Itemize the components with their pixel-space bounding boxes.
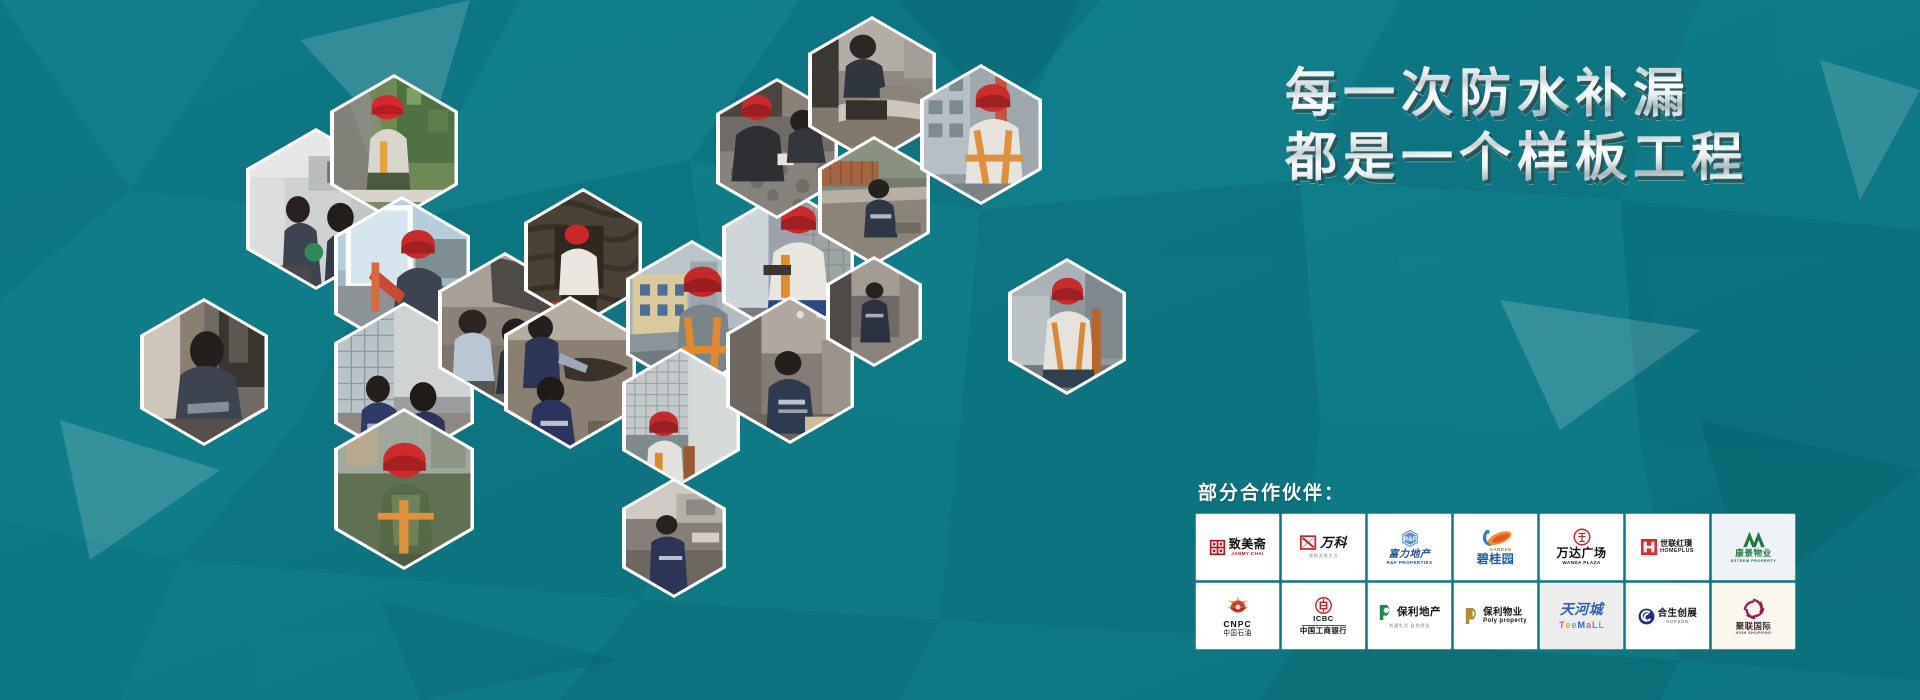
wanda-circle-icon [1573, 528, 1591, 546]
seal-stamp-icon [1209, 539, 1226, 556]
partner-name-cn: 保利地产 [1397, 607, 1441, 619]
partners-title: 部分合作伙伴： [1198, 478, 1796, 505]
hero-banner: 每一次防水补漏 都是一个样板工程 部分合作伙伴： [0, 0, 1920, 700]
icbc-coin-icon [1315, 597, 1332, 614]
partner-name-cn: 天河城 [1560, 602, 1604, 617]
hex-photo-worker-facade-abseil [1008, 258, 1126, 395]
partner-tagline: 建筑无限生活 [1309, 553, 1338, 558]
partner-name-cn: 中国石油 [1223, 630, 1251, 637]
partner-logo-grid: 致美斋 JANMY CHAI 万科 建筑无限生活 [1196, 514, 1796, 649]
partner-logo-cnpc[interactable]: CNPC 中国石油 [1196, 583, 1279, 649]
partner-logo-vanke[interactable]: 万科 建筑无限生活 [1282, 514, 1365, 580]
hex-photo-worker-hallway-pipe [622, 478, 726, 598]
partner-logo-homeplus[interactable]: 世联红璞 HOMEPLUS [1626, 514, 1709, 580]
partner-name-en: ESTEEM PROPERTY [1731, 559, 1777, 564]
partner-logo-icbc[interactable]: ICBC 中国工商银行 [1282, 583, 1365, 649]
julian-flower-icon [1742, 597, 1766, 621]
partners-section: 部分合作伙伴： [1196, 478, 1796, 649]
partner-name-en: R&F PROPERTIES [1387, 560, 1433, 565]
partner-name-en: JANMY CHAI [1229, 551, 1267, 556]
hex-photo-rope-access-technician [920, 64, 1042, 205]
cnpc-sun-icon [1226, 595, 1250, 619]
partner-name-en: HOMEPLUS [1660, 548, 1694, 554]
partner-logo-esteem-property[interactable]: 康景物业 ESTEEM PROPERTY [1712, 514, 1795, 580]
partner-name-cn: 中国工商银行 [1300, 627, 1347, 635]
partner-logo-poly-property[interactable]: 保利物业 Poly property [1454, 583, 1537, 649]
headline-line-1: 每一次防水补漏 [1285, 62, 1885, 126]
partner-name-en: ICBC [1313, 615, 1333, 624]
partner-name-en: WANDA PLAZA [1562, 560, 1600, 565]
partner-logo-wanda-plaza[interactable]: 万达广场 WANDA PLAZA [1540, 514, 1623, 580]
esteem-mountain-icon [1741, 530, 1767, 548]
hopson-spiral-icon [1638, 608, 1655, 625]
hex-photo-worker-indoor-drill [140, 298, 268, 446]
homeplus-h-icon [1641, 539, 1657, 555]
poly-gold-p-icon [1464, 607, 1480, 625]
rf-hexagon-icon: R&F [1401, 529, 1419, 548]
partner-logo-poly-real-estate[interactable]: 保利地产 利通生活 自然舒适 [1368, 583, 1451, 649]
partner-logo-country-garden[interactable]: GARDEN 碧桂园 [1454, 514, 1537, 580]
partner-name-en: HOPSON [1658, 619, 1698, 624]
partner-logo-rf-properties[interactable]: R&F 富力地产 R&F PROPERTIES [1368, 514, 1451, 580]
partner-name-cn: 合生创展 [1658, 608, 1698, 618]
svg-text:R&F: R&F [1403, 537, 1416, 543]
partner-name-cn: 聚联国际 [1736, 622, 1772, 631]
partner-name-cn: 富力地产 [1389, 549, 1431, 560]
partner-name-cn: 万达广场 [1556, 547, 1606, 560]
partner-tagline: 利通生活 自然舒适 [1389, 623, 1430, 628]
headline-line-2: 都是一个样板工程 [1285, 126, 1885, 190]
vanke-square-icon [1300, 535, 1317, 551]
partner-logo-janmy-chai[interactable]: 致美斋 JANMY CHAI [1196, 514, 1279, 580]
partner-name-cn: 致美斋 [1229, 538, 1267, 551]
partner-logo-julian-international[interactable]: 聚联国际 HIGH SHOPPING [1712, 583, 1795, 649]
poly-p-icon [1378, 604, 1394, 621]
partner-name-cn: 保利物业 [1483, 607, 1527, 617]
partner-name-en: CNPC [1223, 620, 1251, 630]
headline-block: 每一次防水补漏 都是一个样板工程 [1285, 62, 1885, 190]
partner-logo-hopson[interactable]: 合生创展 HOPSON [1626, 583, 1709, 649]
partner-name-cn: 世联红璞 [1660, 540, 1694, 549]
partner-name-en: HIGH SHOPPING [1736, 631, 1772, 635]
partner-name-en: Poly property [1483, 618, 1527, 625]
partner-logo-teemall[interactable]: 天河城 T e e M a L L TeeMall [1540, 583, 1623, 649]
partner-name-cn: 万科 [1320, 536, 1347, 550]
partner-name-cn: 碧桂园 [1477, 553, 1515, 566]
